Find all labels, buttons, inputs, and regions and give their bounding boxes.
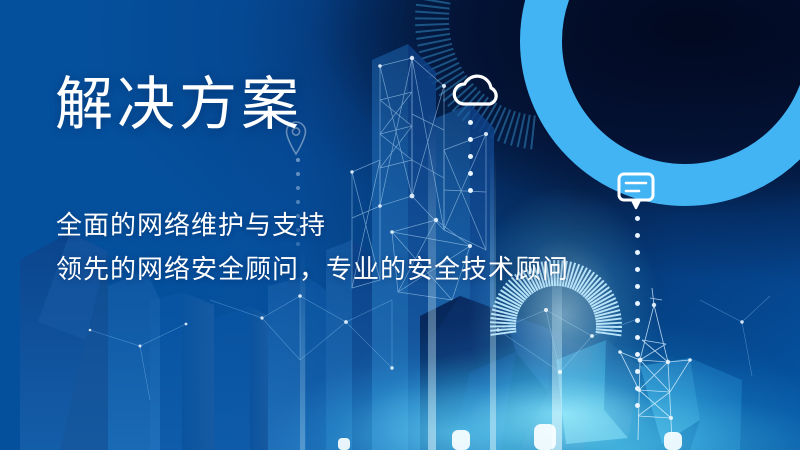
subtitle-line-1: 全面的网络维护与支持 — [56, 203, 569, 247]
subtitle-block: 全面的网络维护与支持 领先的网络安全顾问，专业的安全技术顾问 — [56, 203, 569, 291]
solution-banner-slide: 解决方案 全面的网络维护与支持 领先的网络安全顾问，专业的安全技术顾问 — [0, 0, 800, 450]
cloud-icon — [448, 68, 504, 110]
subtitle-line-2: 领先的网络安全顾问，专业的安全技术顾问 — [56, 247, 569, 291]
page-title: 解决方案 — [55, 76, 303, 134]
chat-bubble-icon — [617, 172, 657, 212]
